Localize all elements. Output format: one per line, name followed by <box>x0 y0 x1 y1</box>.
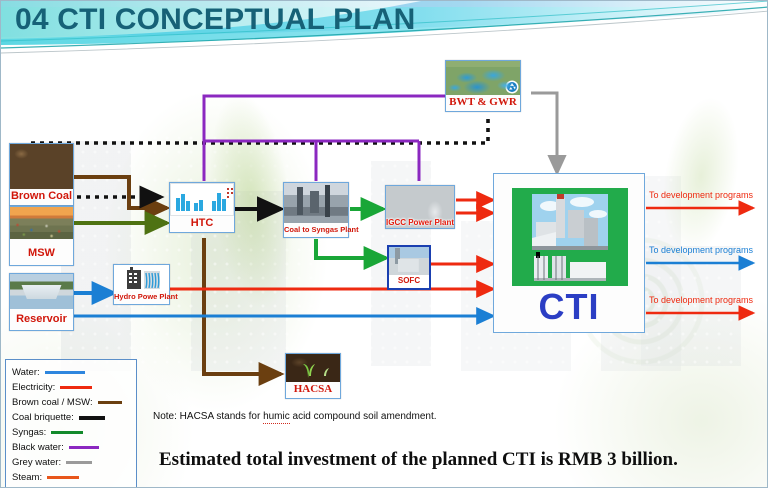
note-text: Note: HACSA stands for humic acid compou… <box>153 411 437 422</box>
node-label-hydro: Hydro Powe Plant <box>114 291 169 304</box>
output-label-1: To development programs <box>649 190 753 200</box>
slide-canvas: 04 CTI CONCEPTUAL PLAN <box>0 0 768 488</box>
hacsa-photo <box>286 354 340 382</box>
node-cti[interactable]: CTI <box>493 173 645 333</box>
htc-chart-icon <box>170 183 234 216</box>
node-coal-to-syngas-plant[interactable]: Coal to Syngas Plant <box>283 182 349 238</box>
header-banner: 04 CTI CONCEPTUAL PLAN <box>1 1 768 59</box>
hydro-plant-icon <box>114 265 169 291</box>
reservoir-photo <box>10 274 73 309</box>
node-bwt-gwr[interactable]: BWT & GWR <box>445 60 521 112</box>
node-label-bwt-gwr: BWT & GWR <box>446 95 520 111</box>
legend-label-coal-briquette: Coal briquette: <box>12 412 74 423</box>
legend-label-electricity: Electricity: <box>12 382 55 393</box>
legend-label-brown-coal-msw: Brown coal / MSW: <box>12 397 93 408</box>
node-label-htc: HTC <box>170 216 234 232</box>
legend-box: Water: Electricity: Brown coal / MSW: Co… <box>5 359 137 488</box>
node-hydro-power-plant[interactable]: Hydro Powe Plant <box>113 264 170 305</box>
legend-item: Steam: <box>12 470 130 485</box>
legend-swatch-syngas <box>51 431 83 434</box>
cti-industry-illustration <box>512 188 628 286</box>
sofc-photo <box>389 247 429 275</box>
node-label-reservoir: Reservoir <box>10 309 73 330</box>
legend-label-syngas: Syngas: <box>12 427 46 438</box>
msw-photo <box>10 207 73 239</box>
node-sofc[interactable]: SOFC <box>387 245 431 290</box>
node-label-msw: MSW <box>10 239 73 265</box>
node-msw[interactable]: MSW <box>9 206 74 266</box>
note-underlined-word: humic <box>263 411 290 424</box>
coal-to-syngas-photo <box>284 183 348 223</box>
legend-label-black-water: Black water: <box>12 442 64 453</box>
legend-item: Syngas: <box>12 425 130 440</box>
legend-label-water: Water: <box>12 367 40 378</box>
legend-swatch-steam <box>47 476 79 479</box>
node-label-cti: CTI <box>494 286 644 328</box>
legend-item: Grey water: <box>12 455 130 470</box>
legend-swatch-coal-briquette <box>79 416 105 420</box>
output-label-3: To development programs <box>649 295 753 305</box>
legend-swatch-grey-water <box>66 461 92 464</box>
node-label-coal-to-syngas: Coal to Syngas Plant <box>284 223 348 237</box>
node-label-igcc: IGCC Power Plant <box>386 218 454 227</box>
cti-photo-panel <box>512 188 628 286</box>
legend-label-steam: Steam: <box>12 472 42 483</box>
node-label-sofc: SOFC <box>389 275 429 288</box>
recycle-badge-icon <box>505 80 519 94</box>
page-title: 04 CTI CONCEPTUAL PLAN <box>15 3 416 37</box>
legend-item: Water: <box>12 365 130 380</box>
node-igcc-power-plant[interactable]: IGCC Power Plant <box>385 185 455 229</box>
investment-statement: Estimated total investment of the planne… <box>159 449 678 471</box>
node-label-brown-coal: Brown Coal <box>10 189 73 205</box>
legend-swatch-water <box>45 371 85 374</box>
legend-swatch-brown-coal-msw <box>98 401 122 404</box>
legend-item: Brown coal / MSW: <box>12 395 130 410</box>
note-suffix: acid compound soil amendment. <box>290 411 437 422</box>
node-label-hacsa: HACSA <box>286 382 340 398</box>
brown-coal-photo <box>10 144 73 189</box>
node-htc[interactable]: HTC <box>169 182 235 233</box>
legend-item: Electricity: <box>12 380 130 395</box>
node-reservoir[interactable]: Reservoir <box>9 273 74 331</box>
legend-swatch-electricity <box>60 386 92 389</box>
legend-item: Coal briquette: <box>12 410 130 425</box>
node-hacsa[interactable]: HACSA <box>285 353 341 399</box>
legend-swatch-black-water <box>69 446 99 449</box>
legend-label-grey-water: Grey water: <box>12 457 61 468</box>
output-label-2: To development programs <box>649 245 753 255</box>
node-brown-coal[interactable]: Brown Coal <box>9 143 74 206</box>
legend-item: Black water: <box>12 440 130 455</box>
note-prefix: Note: HACSA stands for <box>153 411 263 422</box>
bwt-gwr-photo <box>446 61 520 95</box>
